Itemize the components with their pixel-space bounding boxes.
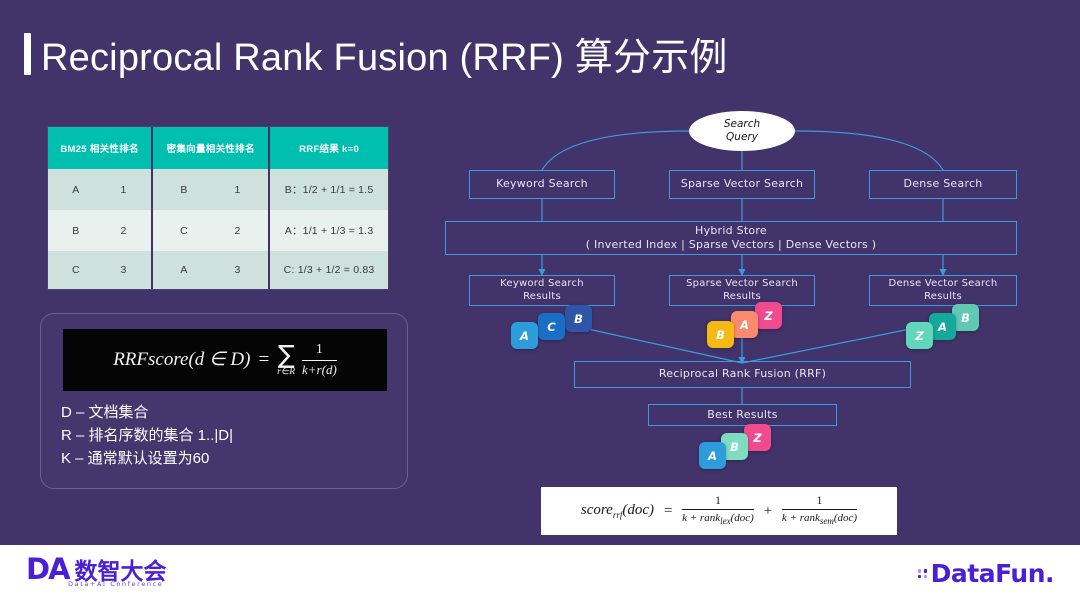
fraction-bar xyxy=(682,509,754,510)
card-chip[interactable]: A xyxy=(511,322,538,349)
bottom-lhs: scorerrf(doc) xyxy=(581,502,654,520)
da-logo-mark: DA xyxy=(26,555,69,584)
fraction-bar xyxy=(782,509,857,510)
node-keyword-search[interactable]: Keyword Search xyxy=(469,170,615,199)
score-rrf-formula-image: scorerrf(doc) = 1 k + ranklex(doc) + 1 k… xyxy=(541,487,897,535)
search-query-line2: Query xyxy=(726,131,758,144)
card-chip[interactable]: A xyxy=(731,311,758,338)
bottom-equals: = xyxy=(663,503,673,520)
card-chip[interactable]: B xyxy=(707,321,734,348)
slide-footer: DA 数智大会 Data+AI Conference DataFun. xyxy=(0,545,1080,607)
node-label-line1: Keyword Search xyxy=(500,278,584,291)
bottom-term-2: 1 k + ranksem(doc) xyxy=(782,495,857,528)
rrf-flow-diagram: Search Query Keyword Search Sparse Vecto… xyxy=(0,0,1080,545)
node-label: Reciprocal Rank Fusion (RRF) xyxy=(659,367,826,381)
datafun-wordmark: DataFun. xyxy=(931,559,1054,588)
search-query-line1: Search xyxy=(724,118,760,131)
card-chip[interactable]: Z xyxy=(906,322,933,349)
card-chip[interactable]: Z xyxy=(755,302,782,329)
search-query-node[interactable]: Search Query xyxy=(689,111,795,151)
datafun-dots-icon xyxy=(918,569,928,578)
datafun-logo: DataFun. xyxy=(918,559,1054,588)
node-best-results[interactable]: Best Results xyxy=(648,404,837,426)
node-hybrid-store[interactable]: Hybrid Store ( Inverted Index | Sparse V… xyxy=(445,221,1017,255)
node-sparse-vector-search-results[interactable]: Sparse Vector Search Results xyxy=(669,275,815,306)
da-logo-subtitle: Data+AI Conference xyxy=(68,580,163,588)
card-chip[interactable]: B xyxy=(952,304,979,331)
card-chip[interactable]: A xyxy=(929,313,956,340)
card-chip[interactable]: C xyxy=(538,313,565,340)
node-reciprocal-rank-fusion[interactable]: Reciprocal Rank Fusion (RRF) xyxy=(574,361,911,388)
node-dense-vector-search-results[interactable]: Dense Vector Search Results xyxy=(869,275,1017,306)
bottom-plus: + xyxy=(763,503,773,520)
node-label: Sparse Vector Search xyxy=(681,177,804,191)
node-label-line2: Results xyxy=(523,291,561,304)
diagram-connectors xyxy=(0,0,1080,545)
node-label: Dense Search xyxy=(904,177,983,191)
hybrid-store-detail: ( Inverted Index | Sparse Vectors | Dens… xyxy=(586,238,877,252)
node-dense-search[interactable]: Dense Search xyxy=(869,170,1017,199)
node-sparse-vector-search[interactable]: Sparse Vector Search xyxy=(669,170,815,199)
card-chip[interactable]: Z xyxy=(744,424,771,451)
node-label: Best Results xyxy=(707,408,778,422)
hybrid-store-title: Hybrid Store xyxy=(695,224,767,238)
slide-canvas: Reciprocal Rank Fusion (RRF) 算分示例 BM25 相… xyxy=(0,0,1080,607)
node-label: Keyword Search xyxy=(496,177,588,191)
node-label-line1: Sparse Vector Search xyxy=(686,278,798,291)
node-label-line2: Results xyxy=(723,291,761,304)
card-chip[interactable]: A xyxy=(699,442,726,469)
node-label-line1: Dense Vector Search Results xyxy=(870,278,1016,304)
node-keyword-search-results[interactable]: Keyword Search Results xyxy=(469,275,615,306)
bottom-term-1: 1 k + ranklex(doc) xyxy=(682,495,754,528)
card-chip[interactable]: B xyxy=(565,305,592,332)
